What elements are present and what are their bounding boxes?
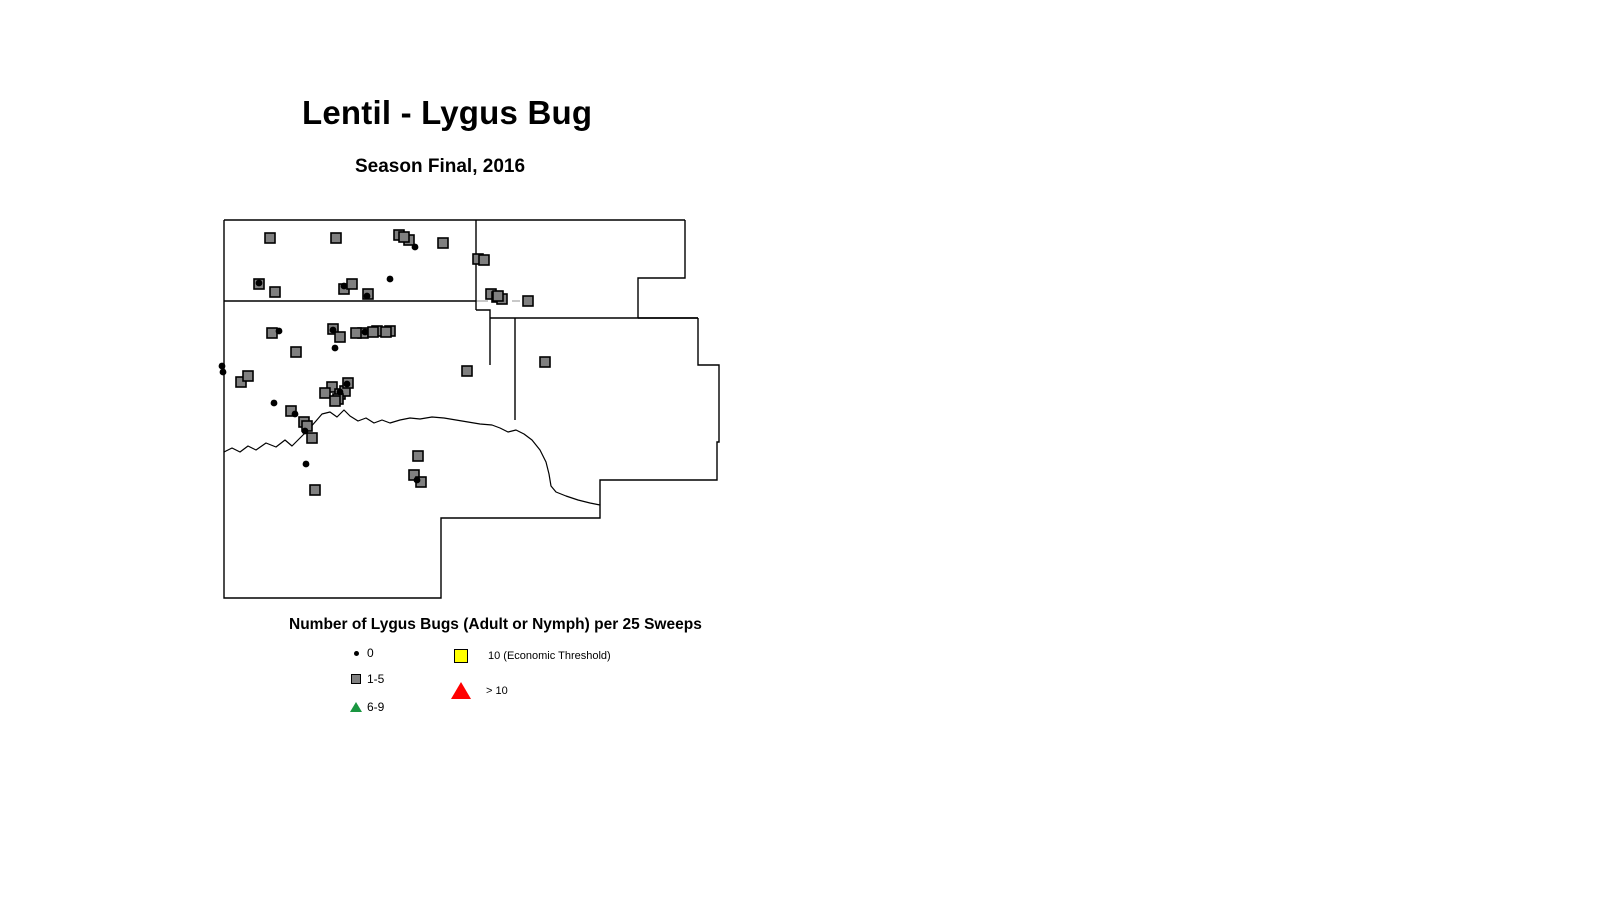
map-marker [438,238,448,248]
map-marker [368,327,378,337]
map-marker [540,357,550,367]
triangle-red-icon [450,682,472,699]
map-marker [271,400,278,407]
legend-item-1-5[interactable]: 1-5 [345,672,384,686]
map-marker [479,255,489,265]
map-marker [330,327,337,334]
square-yellow-icon [450,649,472,663]
map-marker [341,283,348,290]
map-marker [523,296,533,306]
map-marker [276,328,283,335]
legend-item-over-10[interactable]: > 10 [450,682,508,699]
data-markers [219,230,550,495]
legend-item-label: 1-5 [367,672,384,686]
map-marker [413,451,423,461]
legend-item-label: 6-9 [367,700,384,714]
county-boundaries [224,220,719,598]
map-marker [332,345,339,352]
map-marker [362,329,369,336]
map-marker [243,371,253,381]
map-marker [265,233,275,243]
map-marker [330,396,340,406]
map-marker [219,363,226,370]
legend-item-6-9[interactable]: 6-9 [345,700,384,714]
map-marker [256,280,263,287]
legend-item-threshold[interactable]: 10 (Economic Threshold) [450,649,611,663]
legend-title: Number of Lygus Bugs (Adult or Nymph) pe… [289,616,702,634]
map-marker [387,276,394,283]
map-marker [292,411,299,418]
map-marker [270,287,280,297]
map-area [0,0,900,640]
legend-item-label: 10 (Economic Threshold) [488,650,611,662]
map-marker [344,381,351,388]
map-marker [462,366,472,376]
map-marker [381,327,391,337]
map-marker [303,461,310,468]
map-marker [307,433,317,443]
map-marker [493,291,503,301]
square-gray-icon [345,674,367,684]
map-legend: Number of Lygus Bugs (Adult or Nymph) pe… [0,612,900,742]
map-marker [364,293,371,300]
river-boundary [224,410,600,505]
map-marker [291,347,301,357]
map-marker [310,485,320,495]
map-marker [331,233,341,243]
map-marker [337,389,344,396]
map-marker [399,232,409,242]
map-marker [412,244,419,251]
legend-item-0[interactable]: 0 [345,646,374,660]
map-marker [351,328,361,338]
map-marker [320,388,330,398]
map-marker [414,477,421,484]
map-marker [220,369,227,376]
map-marker [335,332,345,342]
dot-black-icon [345,651,367,656]
legend-item-label: 0 [367,646,374,660]
map-svg [0,0,900,640]
triangle-green-icon [345,702,367,712]
map-marker [302,428,309,435]
legend-item-label: > 10 [486,685,508,697]
map-marker [267,328,277,338]
map-marker [347,279,357,289]
